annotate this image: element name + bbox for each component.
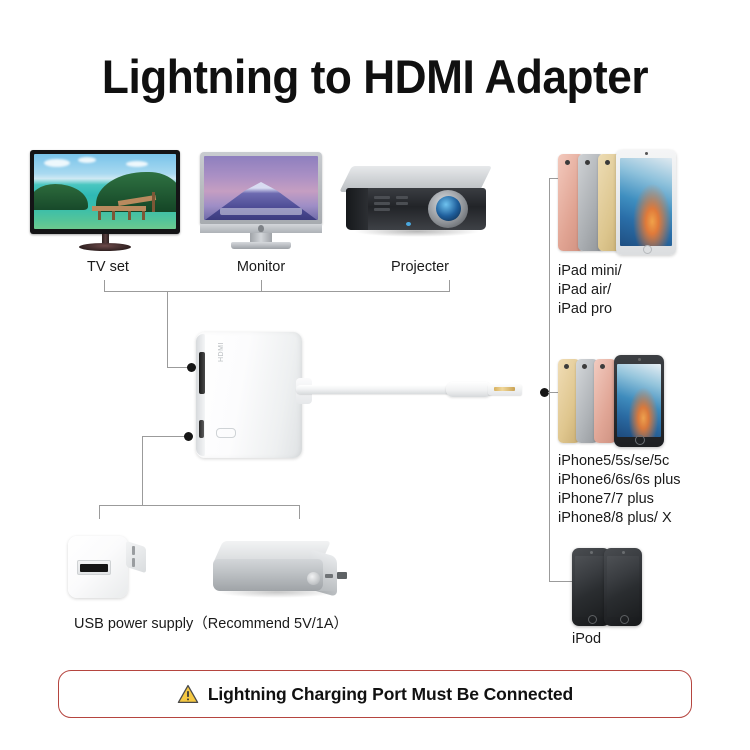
leader-drop-power: [142, 436, 143, 506]
tv-set-label: TV set: [48, 258, 168, 277]
projector-label: Projecter: [360, 258, 480, 277]
page-title: Lightning to HDMI Adapter: [23, 52, 728, 101]
ipod-label: iPod: [572, 630, 692, 649]
hdmi-port-label: HDMI: [218, 342, 225, 362]
warning-banner: Lightning Charging Port Must Be Connecte…: [58, 670, 692, 718]
tv-screen-icon: [30, 150, 180, 250]
usb-power-supply-label: USB power supply（Recommend 5V/1A）: [74, 615, 474, 634]
imac-monitor-icon: [200, 152, 322, 250]
power-bank-icon: [213, 541, 337, 599]
ipod-group-icon: [572, 548, 646, 626]
warning-triangle-icon: [177, 684, 199, 704]
leader-dot-lightning: [184, 432, 193, 441]
lightning-cable: [296, 378, 546, 400]
leader-drop-hdmi: [167, 291, 168, 367]
leader-stub-powerbank: [299, 505, 300, 519]
iphone-label: iPhone5/5s/se/5c iPhone6/6s/6s plus iPho…: [558, 452, 738, 529]
leader-dot-hdmi: [187, 363, 196, 372]
lightning-port-glyph-icon: [216, 428, 236, 438]
leader-arm-lightning: [142, 436, 188, 437]
projector-icon: [346, 166, 494, 252]
lightning-hdmi-adapter-body: HDMI: [196, 332, 302, 458]
hdmi-port: [199, 352, 205, 394]
warning-text: Lightning Charging Port Must Be Connecte…: [208, 684, 573, 705]
usb-wall-charger-icon: [68, 530, 146, 602]
leader-bus-power: [99, 505, 300, 506]
leader-bus-devices: [549, 178, 550, 582]
apple-logo-icon: [258, 225, 264, 232]
leader-bus-outputs: [104, 291, 450, 292]
product-diagram: Lightning to HDMI Adapter TV set: [0, 0, 750, 750]
ipad-label: iPad mini/ iPad air/ iPad pro: [558, 262, 708, 319]
ipad-group-icon: [558, 150, 676, 255]
leader-stub-charger: [99, 505, 100, 519]
lightning-port: [199, 420, 204, 438]
iphone-group-icon: [558, 355, 670, 447]
monitor-label: Monitor: [201, 258, 321, 277]
